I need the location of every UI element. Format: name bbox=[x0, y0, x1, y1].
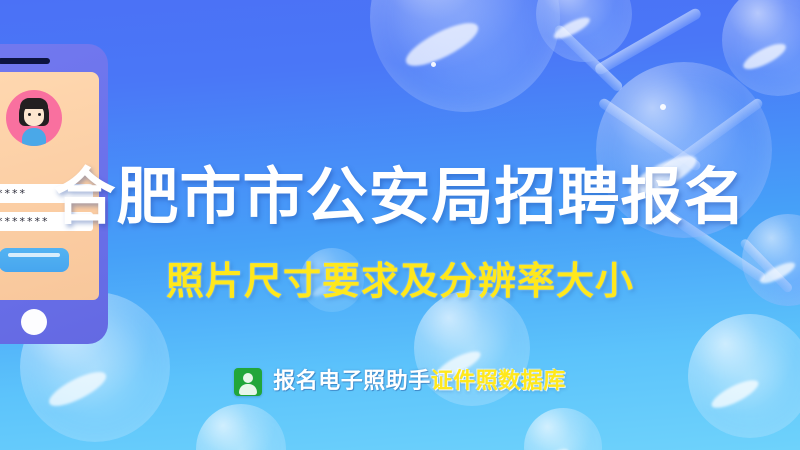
page-subtitle: 照片尺寸要求及分辨率大小 bbox=[0, 262, 800, 300]
user-avatar-head bbox=[243, 373, 253, 383]
footer-brand: 报名电子照助手 证件照数据库 bbox=[0, 368, 800, 396]
footer-text-secondary: 证件照数据库 bbox=[431, 371, 566, 393]
user-avatar-icon bbox=[234, 368, 262, 396]
page-title: 合肥市市公安局招聘报名 bbox=[0, 166, 800, 228]
promo-banner: ****** ********* 合肥市市公安局招聘报名 照片尺寸要求及分辨率大… bbox=[0, 0, 800, 450]
banner-text-block: 合肥市市公安局招聘报名 照片尺寸要求及分辨率大小 报名电子照助手 证件照数据库 bbox=[0, 0, 800, 450]
user-avatar-body bbox=[239, 384, 257, 395]
footer-text-primary: 报名电子照助手 bbox=[273, 371, 431, 393]
